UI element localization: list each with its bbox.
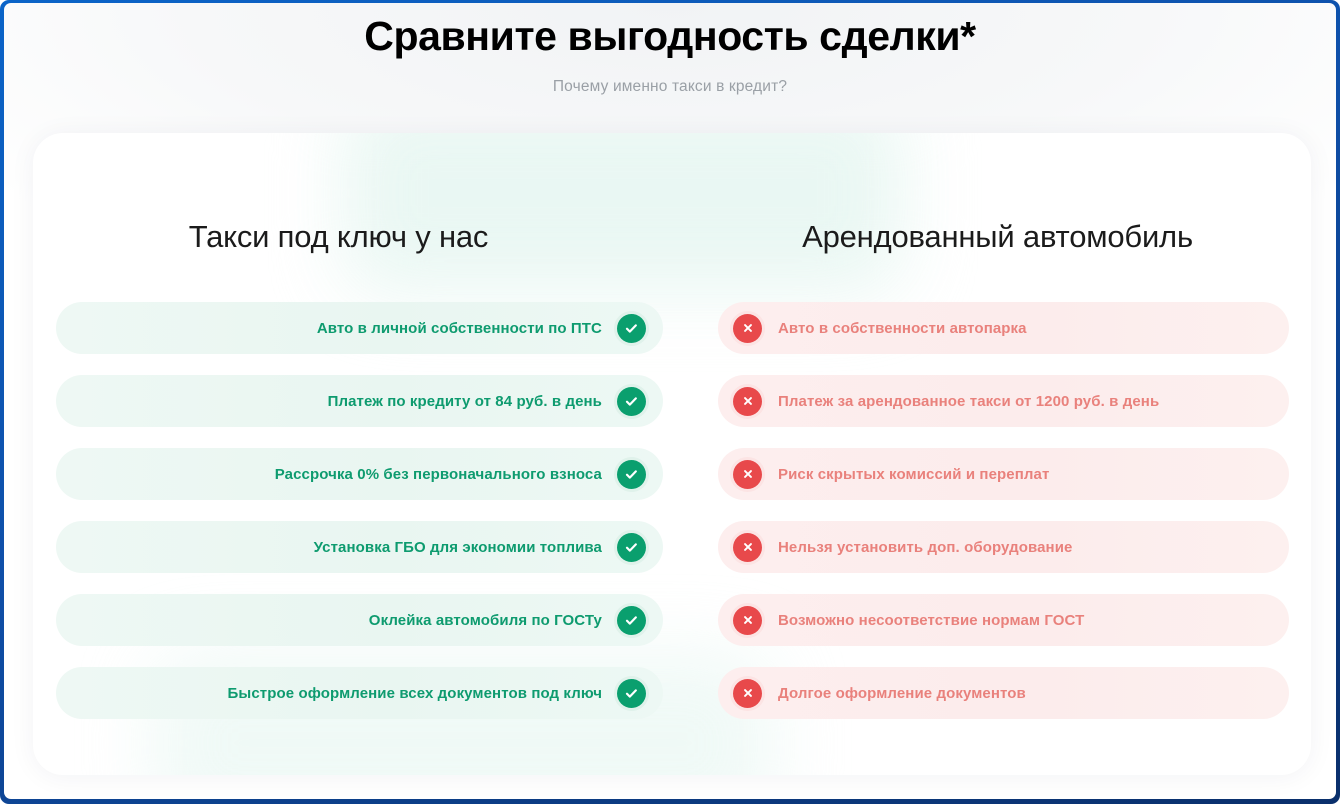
comparison-column-rented: Арендованный автомобиль Авто в собственн… [672, 133, 1311, 775]
comparison-card: Такси под ключ у нас Авто в личной собст… [33, 133, 1311, 775]
cross-circle-icon [733, 460, 762, 489]
cross-circle-icon [733, 679, 762, 708]
list-item-label: Возможно несоответствие нормам ГОСТ [778, 612, 1084, 629]
check-circle-icon [617, 387, 646, 416]
cross-circle-icon [733, 533, 762, 562]
check-circle-icon [617, 314, 646, 343]
list-item-label: Установка ГБО для экономии топлива [314, 539, 602, 556]
page-surface: Сравните выгодность сделки* Почему именн… [4, 3, 1336, 799]
page-title: Сравните выгодность сделки* [4, 9, 1336, 63]
list-item-label: Оклейка автомобиля по ГОСТу [369, 612, 602, 629]
list-item-label: Рассрочка 0% без первоначального взноса [275, 466, 602, 483]
list-item[interactable]: Возможно несоответствие нормам ГОСТ [718, 594, 1289, 646]
check-circle-icon [617, 460, 646, 489]
list-item[interactable]: Нельзя установить доп. оборудование [718, 521, 1289, 573]
list-item[interactable]: Платеж по кредиту от 84 руб. в день [56, 375, 663, 427]
list-item-label: Авто в личной собственности по ПТС [317, 320, 602, 337]
list-item-label: Быстрое оформление всех документов под к… [228, 685, 602, 702]
list-item[interactable]: Быстрое оформление всех документов под к… [56, 667, 663, 719]
list-item[interactable]: Платеж за арендованное такси от 1200 руб… [718, 375, 1289, 427]
list-item-label: Нельзя установить доп. оборудование [778, 539, 1072, 556]
list-item-label: Платеж за арендованное такси от 1200 руб… [778, 393, 1159, 410]
list-item-label: Авто в собственности автопарка [778, 320, 1027, 337]
column-heading-rented: Арендованный автомобиль [672, 217, 1311, 257]
heading-block: Сравните выгодность сделки* Почему именн… [4, 9, 1336, 98]
list-item[interactable]: Долгое оформление документов [718, 667, 1289, 719]
check-circle-icon [617, 606, 646, 635]
drawback-list-rented: Авто в собственности автопарка Платеж за… [672, 302, 1311, 740]
list-item[interactable]: Авто в личной собственности по ПТС [56, 302, 663, 354]
benefit-list-ours: Авто в личной собственности по ПТС Плате… [33, 302, 672, 740]
list-item-label: Долгое оформление документов [778, 685, 1026, 702]
list-item[interactable]: Авто в собственности автопарка [718, 302, 1289, 354]
cross-circle-icon [733, 387, 762, 416]
list-item[interactable]: Рассрочка 0% без первоначального взноса [56, 448, 663, 500]
cross-circle-icon [733, 606, 762, 635]
list-item[interactable]: Оклейка автомобиля по ГОСТу [56, 594, 663, 646]
list-item[interactable]: Риск скрытых комиссий и переплат [718, 448, 1289, 500]
list-item[interactable]: Установка ГБО для экономии топлива [56, 521, 663, 573]
page-subtitle: Почему именно такси в кредит? [4, 76, 1336, 98]
page-frame: Сравните выгодность сделки* Почему именн… [0, 0, 1340, 804]
comparison-column-ours: Такси под ключ у нас Авто в личной собст… [33, 133, 672, 775]
check-circle-icon [617, 679, 646, 708]
column-heading-ours: Такси под ключ у нас [33, 217, 672, 257]
cross-circle-icon [733, 314, 762, 343]
list-item-label: Платеж по кредиту от 84 руб. в день [328, 393, 602, 410]
check-circle-icon [617, 533, 646, 562]
list-item-label: Риск скрытых комиссий и переплат [778, 466, 1049, 483]
